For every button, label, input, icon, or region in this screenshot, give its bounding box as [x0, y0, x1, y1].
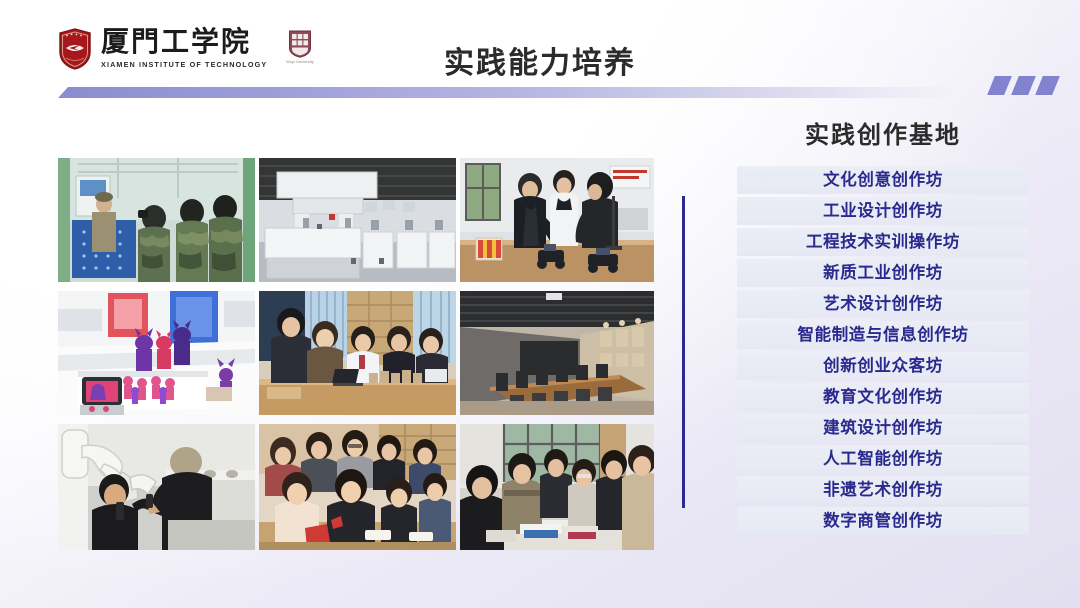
- practice-photo-grid: [58, 158, 654, 554]
- header-gradient-bar: [58, 87, 958, 98]
- slash-icon-1: [987, 76, 1012, 95]
- practice-base-list: 文化创意创作坊 工业设计创作坊 工程技术实训操作坊 新质工业创作坊 艺术设计创作…: [737, 166, 1029, 535]
- slash-icon-2: [1011, 76, 1036, 95]
- list-item[interactable]: 工业设计创作坊: [737, 197, 1029, 225]
- list-item[interactable]: 新质工业创作坊: [737, 259, 1029, 287]
- photo-item-8: [259, 424, 456, 550]
- list-item[interactable]: 人工智能创作坊: [737, 445, 1029, 473]
- photo-item-1: [58, 158, 255, 282]
- photo-item-4: [58, 291, 255, 415]
- list-item[interactable]: 非遗艺术创作坊: [737, 476, 1029, 504]
- panel-title: 实践创作基地: [718, 115, 1048, 150]
- photo-item-7: [58, 424, 255, 550]
- slide-header: 厦門工学院 XIAMEN INSTITUTE OF TECHNOLOGY: [0, 0, 1080, 100]
- vertical-divider: [682, 196, 685, 508]
- list-item[interactable]: 文化创意创作坊: [737, 166, 1029, 194]
- list-item[interactable]: 工程技术实训操作坊: [737, 228, 1029, 256]
- header-slash-decor: [991, 76, 1056, 95]
- photo-item-2: [259, 158, 456, 282]
- page-title: 实践能力培养: [0, 38, 1080, 82]
- list-item[interactable]: 建筑设计创作坊: [737, 414, 1029, 442]
- list-item[interactable]: 智能制造与信息创作坊: [737, 321, 1029, 349]
- list-item[interactable]: 教育文化创作坊: [737, 383, 1029, 411]
- list-item[interactable]: 艺术设计创作坊: [737, 290, 1029, 318]
- photo-item-6: [460, 291, 654, 415]
- photo-item-5: [259, 291, 456, 415]
- practice-base-panel: 实践创作基地 文化创意创作坊 工业设计创作坊 工程技术实训操作坊 新质工业创作坊…: [718, 115, 1048, 535]
- list-item[interactable]: 数字商管创作坊: [737, 507, 1029, 535]
- list-item[interactable]: 创新创业众客坊: [737, 352, 1029, 380]
- photo-item-3: [460, 158, 654, 282]
- slide-root: 厦門工学院 XIAMEN INSTITUTE OF TECHNOLOGY: [0, 0, 1080, 608]
- slash-icon-3: [1035, 76, 1060, 95]
- photo-item-9: [460, 424, 654, 550]
